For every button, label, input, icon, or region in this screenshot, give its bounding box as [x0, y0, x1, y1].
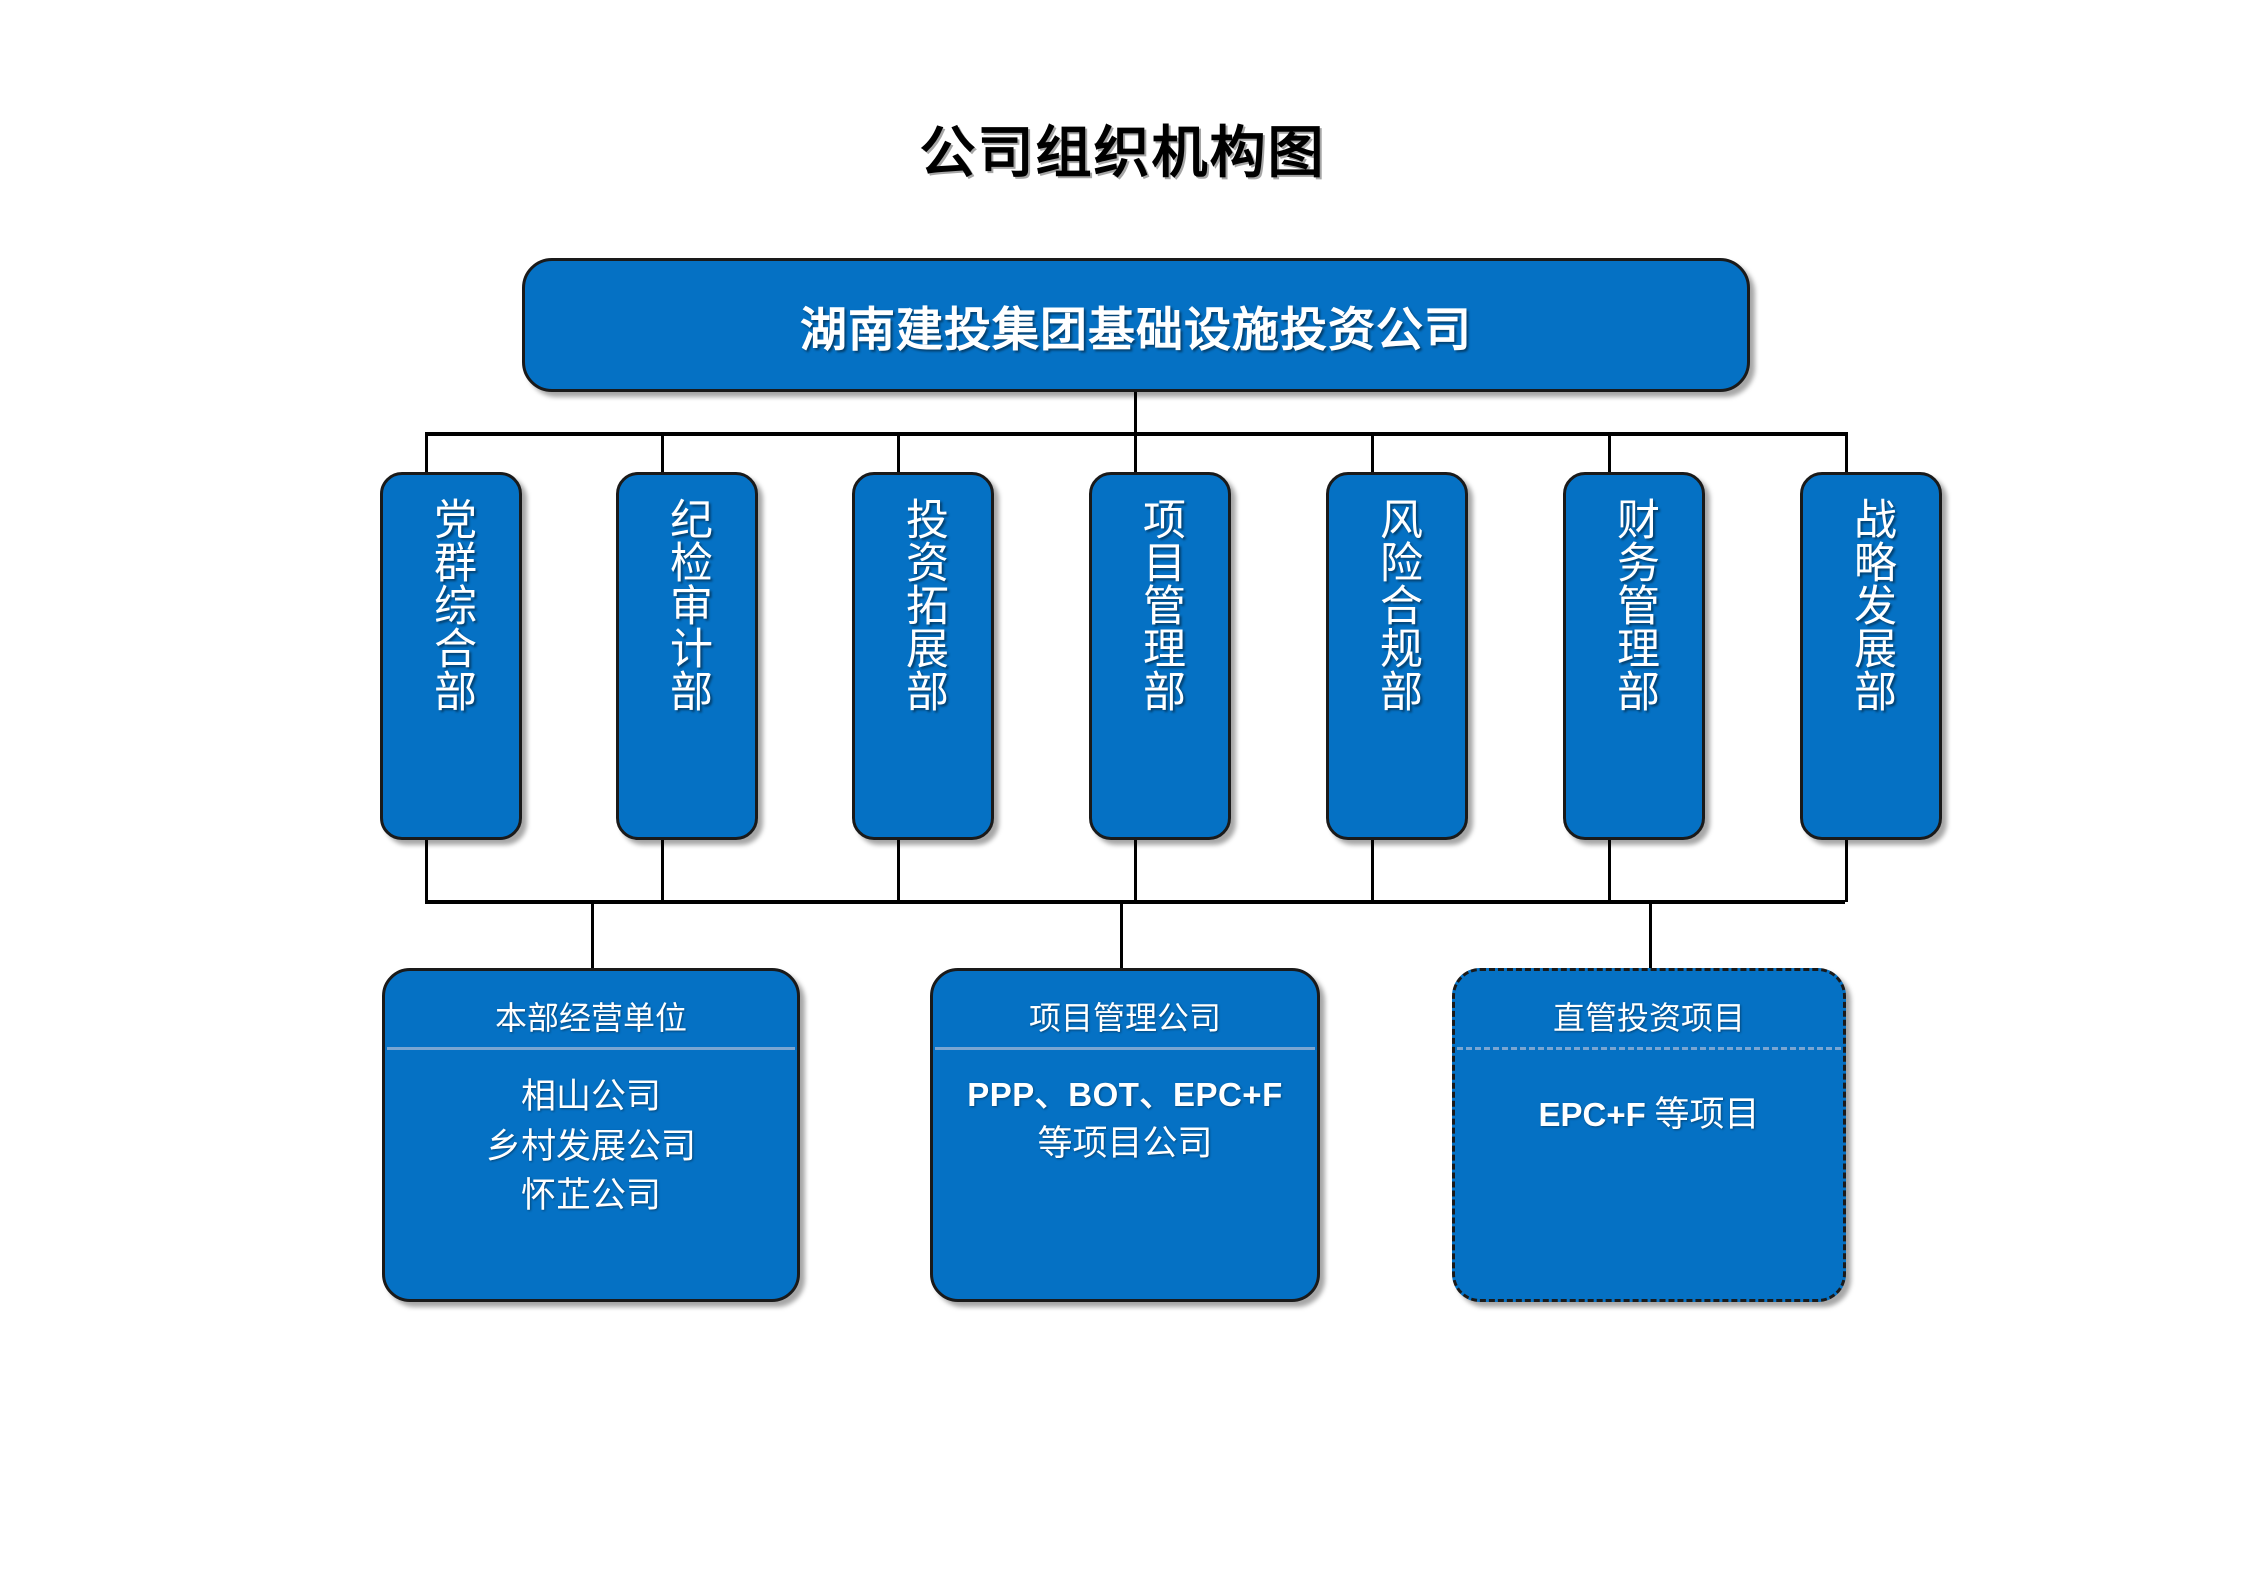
org-node-group-2[interactable]: 项目管理公司 PPP、BOT、EPC+F 等项目公司 — [930, 968, 1320, 1302]
org-node-group-3-line-1: EPC+F 等项目 — [1538, 1090, 1759, 1140]
connector-riser-dept-1 — [425, 840, 428, 902]
connector-drop-group-2 — [1120, 900, 1123, 970]
org-node-group-1-line-1: 相山公司 — [521, 1072, 661, 1122]
org-node-group-1-line-2: 乡村发展公司 — [486, 1122, 696, 1172]
org-node-group-3-line-1-bold: EPC+F — [1538, 1096, 1645, 1133]
connector-drop-dept-5 — [1371, 432, 1374, 474]
org-node-group-1-body: 相山公司 乡村发展公司 怀芷公司 — [385, 1050, 797, 1221]
org-node-root-label: 湖南建投集团基础设施投资公司 — [800, 291, 1472, 360]
org-node-department-6[interactable]: 财务管理部 — [1563, 472, 1705, 840]
org-node-department-5-label: 风险合规部 — [1369, 497, 1424, 712]
org-node-department-7-label: 战略发展部 — [1843, 497, 1898, 712]
connector-root-stem — [1134, 392, 1137, 436]
connector-group-bus — [425, 900, 1845, 904]
org-node-group-3-line-1-rest: 等项目 — [1646, 1095, 1760, 1134]
connector-riser-dept-6 — [1608, 840, 1611, 902]
connector-drop-dept-6 — [1608, 432, 1611, 474]
org-node-department-1[interactable]: 党群综合部 — [380, 472, 522, 840]
org-node-group-2-line-2: 等项目公司 — [1037, 1119, 1212, 1169]
org-node-department-3-label: 投资拓展部 — [895, 497, 950, 712]
connector-drop-dept-2 — [661, 432, 664, 474]
org-node-department-4[interactable]: 项目管理部 — [1089, 472, 1231, 840]
org-node-root[interactable]: 湖南建投集团基础设施投资公司 — [522, 258, 1750, 392]
connector-riser-dept-3 — [897, 840, 900, 902]
connector-drop-group-1 — [591, 900, 594, 970]
connector-riser-dept-7 — [1845, 840, 1848, 902]
org-node-department-7[interactable]: 战略发展部 — [1800, 472, 1942, 840]
connector-riser-dept-2 — [661, 840, 664, 902]
org-node-department-5[interactable]: 风险合规部 — [1326, 472, 1468, 840]
org-node-department-3[interactable]: 投资拓展部 — [852, 472, 994, 840]
page-title: 公司组织机构图 — [0, 108, 2245, 189]
org-node-group-3-header: 直管投资项目 — [1455, 971, 1843, 1047]
org-node-group-2-line-1: PPP、BOT、EPC+F — [967, 1072, 1282, 1119]
org-node-group-1-line-3: 怀芷公司 — [521, 1171, 661, 1221]
connector-riser-dept-4 — [1134, 840, 1137, 902]
org-node-department-6-label: 财务管理部 — [1606, 497, 1661, 712]
connector-riser-dept-5 — [1371, 840, 1374, 902]
connector-drop-dept-3 — [897, 432, 900, 474]
connector-drop-dept-1 — [425, 432, 428, 474]
connector-drop-dept-7 — [1845, 432, 1848, 474]
org-node-group-2-header: 项目管理公司 — [933, 971, 1317, 1047]
org-node-department-2-label: 纪检审计部 — [659, 497, 714, 712]
org-node-group-2-body: PPP、BOT、EPC+F 等项目公司 — [933, 1050, 1317, 1169]
connector-drop-dept-4 — [1134, 432, 1137, 474]
org-node-group-1-header: 本部经营单位 — [385, 971, 797, 1047]
org-node-group-1[interactable]: 本部经营单位 相山公司 乡村发展公司 怀芷公司 — [382, 968, 800, 1302]
org-node-department-1-label: 党群综合部 — [423, 497, 478, 712]
org-node-department-2[interactable]: 纪检审计部 — [616, 472, 758, 840]
org-node-group-3[interactable]: 直管投资项目 EPC+F 等项目 — [1452, 968, 1846, 1302]
org-node-group-3-body: EPC+F 等项目 — [1455, 1050, 1843, 1140]
connector-drop-group-3 — [1649, 900, 1652, 970]
org-chart-canvas: 公司组织机构图 湖南建投集团基础设施投资公司 党群综合部 纪检审计部 投资拓展部… — [0, 0, 2245, 1587]
org-node-department-4-label: 项目管理部 — [1132, 497, 1187, 712]
